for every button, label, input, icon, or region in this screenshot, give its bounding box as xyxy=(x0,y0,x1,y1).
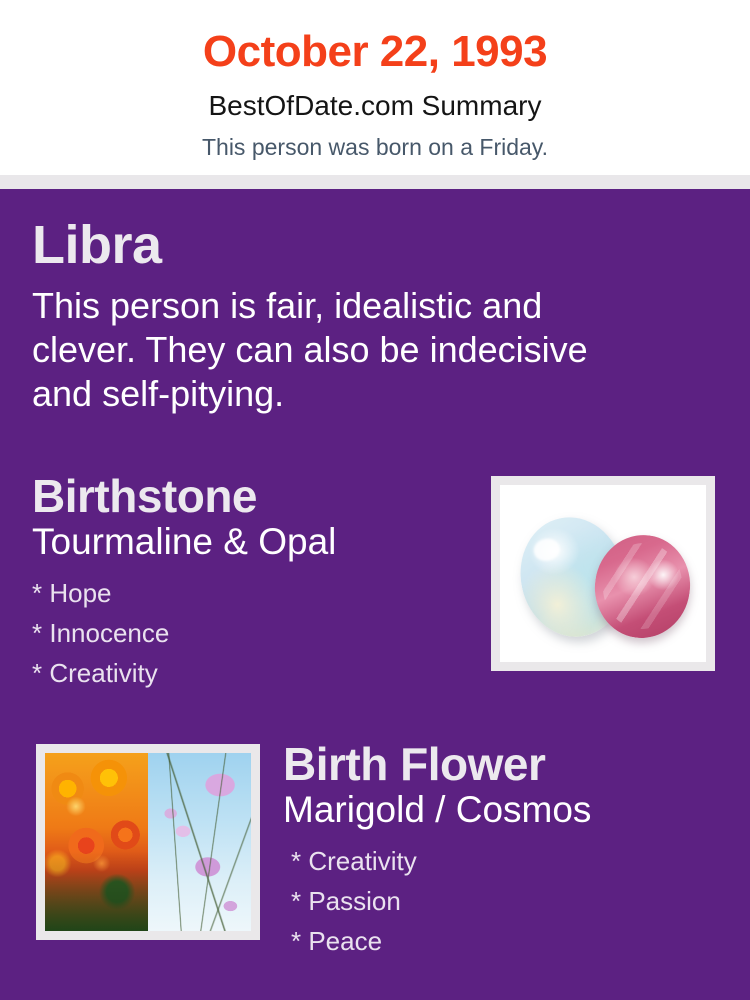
birth-flower-trait-list: * Creativity * Passion * Peace xyxy=(283,841,723,961)
list-item: * Creativity xyxy=(283,841,723,881)
birthstone-title: Birthstone xyxy=(32,472,462,520)
site-subtitle: BestOfDate.com Summary xyxy=(0,74,750,120)
gemstone-illustration xyxy=(500,485,706,662)
birth-flower-image xyxy=(45,753,251,931)
header-divider xyxy=(0,175,750,189)
birth-flower-names: Marigold / Cosmos xyxy=(283,790,723,831)
birthstone-trait-list: * Hope * Innocence * Creativity xyxy=(32,573,462,693)
list-item: * Passion xyxy=(283,881,723,921)
page-title: October 22, 1993 xyxy=(0,0,750,74)
birth-flower-title: Birth Flower xyxy=(283,740,723,788)
list-item: * Innocence xyxy=(32,613,462,653)
zodiac-description: This person is fair, idealistic and clev… xyxy=(32,284,602,416)
card-header: October 22, 1993 BestOfDate.com Summary … xyxy=(0,0,750,175)
content-panel: Libra This person is fair, idealistic an… xyxy=(0,189,750,1000)
birth-flower-section: Birth Flower Marigold / Cosmos * Creativ… xyxy=(283,740,723,961)
cosmos-flower-icon xyxy=(148,753,251,931)
birth-flower-image-frame xyxy=(36,744,260,940)
list-item: * Hope xyxy=(32,573,462,613)
birthstone-image xyxy=(500,485,706,662)
birthstone-image-frame xyxy=(491,476,715,671)
list-item: * Peace xyxy=(283,921,723,961)
list-item: * Creativity xyxy=(32,653,462,693)
flower-illustration xyxy=(45,753,251,931)
zodiac-section: Libra This person is fair, idealistic an… xyxy=(32,217,652,415)
marigold-flower-icon xyxy=(45,753,148,931)
zodiac-sign-name: Libra xyxy=(32,217,652,274)
birth-day-note: This person was born on a Friday. xyxy=(0,120,750,159)
birthstone-names: Tourmaline & Opal xyxy=(32,522,462,563)
summary-card: October 22, 1993 BestOfDate.com Summary … xyxy=(0,0,750,1000)
birthstone-section: Birthstone Tourmaline & Opal * Hope * In… xyxy=(32,472,462,693)
